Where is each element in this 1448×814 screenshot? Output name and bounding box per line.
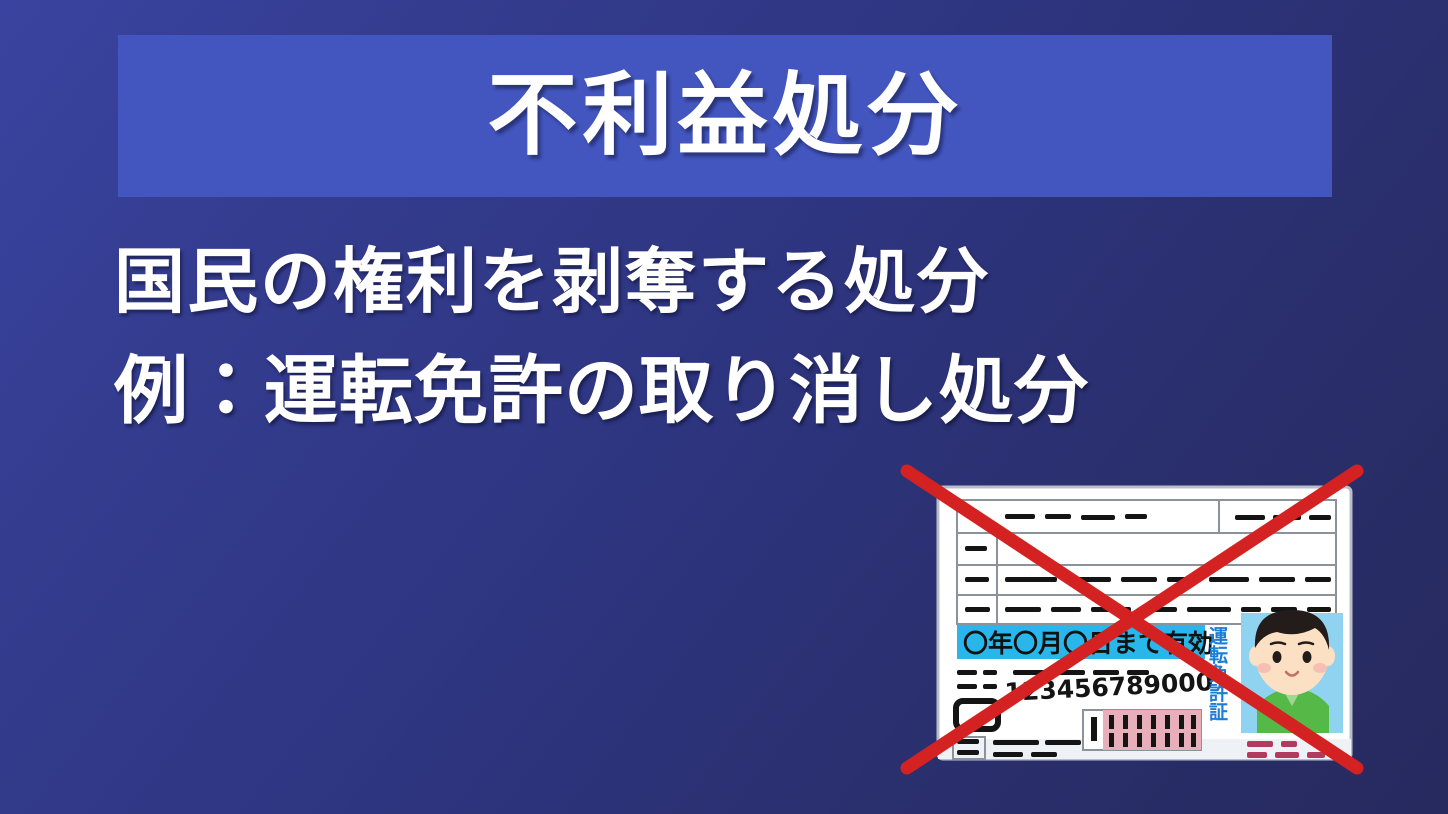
title-banner: 不利益処分 [118, 35, 1332, 197]
crossed-out-drivers-license-illustration: 〇年〇月〇日まで有効 [895, 458, 1365, 778]
body-line-definition: 国民の権利を剥奪する処分 [114, 244, 1214, 319]
body-line-example: 例：運転免許の取り消し処分 [114, 352, 1214, 430]
license-photo [1241, 610, 1343, 733]
body-text-block: 国民の権利を剥奪する処分 例：運転免許の取り消し処分 [114, 244, 1214, 431]
tally-box [1083, 710, 1201, 750]
slide: 不利益処分 国民の権利を剥奪する処分 例：運転免許の取り消し処分 [0, 0, 1448, 814]
page-title: 不利益処分 [488, 71, 963, 161]
